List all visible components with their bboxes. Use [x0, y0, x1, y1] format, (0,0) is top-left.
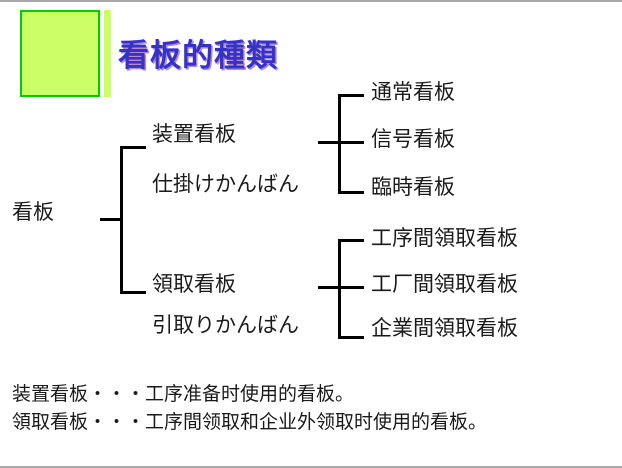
- branch-2-bracket-arm-middle: [338, 286, 364, 289]
- main-bracket-top-arm: [120, 146, 146, 149]
- branch-1-bracket-spine: [338, 94, 341, 194]
- branch-2-bracket-spine: [338, 239, 341, 339]
- branch-2-bracket-arm-top: [338, 239, 364, 242]
- branch-1-bracket-stem: [318, 141, 339, 144]
- branch-2-label-sub: 引取りかんばん: [152, 315, 299, 336]
- branch-2-bracket-stem: [318, 286, 339, 289]
- main-bracket-bottom-arm: [120, 291, 146, 294]
- main-bracket-stem: [100, 218, 121, 221]
- branch-2-bracket-arm-bottom: [338, 336, 364, 339]
- branch-1-label-main: 装置看板: [152, 124, 236, 145]
- branch-1-child-3: 臨時看板: [371, 177, 455, 198]
- branch-1-bracket-arm-bottom: [338, 191, 364, 194]
- decoration-green-bar: [104, 10, 111, 97]
- branch-1-bracket-arm-top: [338, 94, 364, 97]
- decoration-green-box: [20, 10, 100, 97]
- branch-2-child-2: 工厂間領取看板: [371, 274, 518, 295]
- branch-1-label-sub: 仕掛けかんばん: [152, 174, 299, 195]
- branch-1-bracket-arm-middle: [338, 141, 364, 144]
- footnote-line-2: 領取看板・・・工序間领取和企业外领取时使用的看板。: [12, 413, 487, 432]
- branch-2-child-1: 工序間領取看板: [371, 228, 518, 249]
- footnote-line-1: 装置看板・・・工序准备时使用的看板。: [12, 385, 354, 404]
- branch-1-child-2: 信号看板: [371, 129, 455, 150]
- branch-1-child-1: 通常看板: [371, 82, 455, 103]
- branch-2-child-3: 企業間領取看板: [371, 318, 518, 339]
- branch-2-label-main: 領取看板: [152, 274, 236, 295]
- page-title: 看板的種類: [118, 30, 278, 75]
- tree-root-label: 看板: [12, 202, 54, 223]
- slide-canvas: 看板的種類 看板 装置看板 仕掛けかんばん 領取看板 引取りかんばん 通常看板 …: [0, 0, 622, 468]
